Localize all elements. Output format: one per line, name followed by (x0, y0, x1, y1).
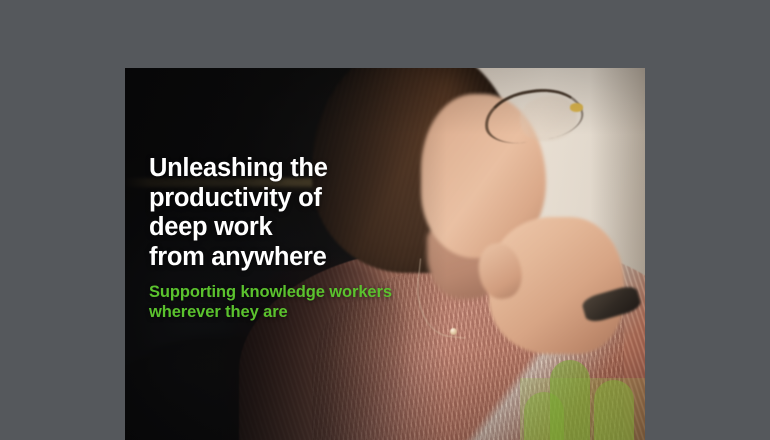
cover-headline: Unleashing the productivity of deep work… (149, 154, 479, 272)
cover-copy-block: Unleashing the productivity of deep work… (149, 154, 479, 322)
subhead-line: wherever they are (149, 303, 479, 323)
headline-line: deep work (149, 213, 479, 243)
headline-line: productivity of (149, 184, 479, 214)
screenshot-canvas: Unleashing the productivity of deep work… (0, 0, 770, 440)
headline-line: Unleashing the (149, 154, 479, 184)
headline-line: from anywhere (149, 243, 479, 273)
cover-subhead: Supporting knowledge workers wherever th… (149, 283, 479, 322)
photo-glasses-hinge (570, 103, 584, 111)
ebook-cover-thumbnail[interactable]: Unleashing the productivity of deep work… (125, 68, 645, 440)
subhead-line: Supporting knowledge workers (149, 283, 479, 303)
